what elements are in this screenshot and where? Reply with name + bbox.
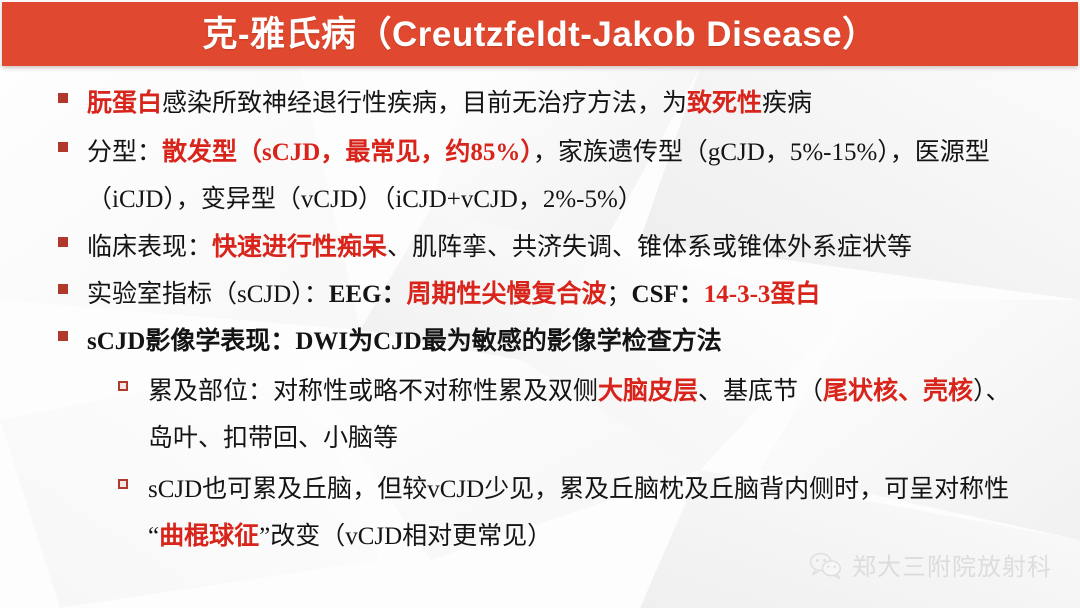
highlight-text: 尾状核、壳核 [823, 378, 973, 405]
plain-text: EEG： [329, 281, 407, 308]
highlight-text: 散发型（sCJD，最常见，约85%） [162, 139, 533, 166]
plain-text: 、基底节（ [698, 378, 823, 405]
plain-text: 疾病 [762, 90, 812, 117]
bullet-item: 分型：散发型（sCJD，最常见，约85%），家族遗传型（gCJD，5%-15%）… [0, 129, 1080, 223]
bullet-item: 实验室指标（sCJD）：EEG：周期性尖慢复合波；CSF：14-3-3蛋白 [0, 271, 1080, 318]
highlight-text: 致死性 [687, 90, 762, 117]
slide-title-banner: 克-雅氏病（Creutzfeldt-Jakob Disease） [2, 2, 1078, 66]
bullet-text: 朊蛋白感染所致神经退行性疾病，目前无治疗方法，为致死性疾病 [68, 80, 1080, 127]
plain-text: 分型： [87, 139, 162, 166]
highlight-text: 曲棍球征 [159, 523, 259, 550]
plain-text: 临床表现： [87, 234, 212, 261]
sub-bullet-item: sCJD也可累及丘脑，但较vCJD少见，累及丘脑枕及丘脑背内侧时，可呈对称性“曲… [0, 466, 1080, 560]
highlight-text: 朊蛋白 [87, 90, 162, 117]
slide-canvas: 克-雅氏病（Creutzfeldt-Jakob Disease） 朊蛋白感染所致… [0, 0, 1080, 608]
bullet-text: sCJD也可累及丘脑，但较vCJD少见，累及丘脑枕及丘脑背内侧时，可呈对称性“曲… [128, 466, 1080, 560]
highlight-text: 14-3-3蛋白 [704, 281, 821, 308]
watermark-label: 郑大三附院放射科 [852, 547, 1052, 582]
plain-text: 累及部位：对称性或略不对称性累及双侧 [148, 378, 598, 405]
bullet-text: 临床表现：快速进行性痴呆、肌阵挛、共济失调、锥体系或锥体外系症状等 [68, 224, 1080, 271]
bullet-marker-icon [58, 93, 68, 103]
plain-text: ； [607, 281, 632, 308]
bullet-item: 临床表现：快速进行性痴呆、肌阵挛、共济失调、锥体系或锥体外系症状等 [0, 224, 1080, 271]
highlight-text: 快速进行性痴呆 [212, 234, 387, 261]
bullet-text: 分型：散发型（sCJD，最常见，约85%），家族遗传型（gCJD，5%-15%）… [68, 129, 1080, 223]
plain-text: 实验室指标（sCJD）： [87, 281, 329, 308]
sub-bullet-item: 累及部位：对称性或略不对称性累及双侧大脑皮层、基底节（尾状核、壳核）、岛叶、扣带… [0, 368, 1080, 462]
bullet-marker-icon [58, 237, 68, 247]
slide-body: 朊蛋白感染所致神经退行性疾病，目前无治疗方法，为致死性疾病分型：散发型（sCJD… [0, 72, 1080, 608]
plain-text: sCJD影像学表现：DWI为CJD最为敏感的影像学检查方法 [87, 328, 722, 355]
plain-text: 感染所致神经退行性疾病，目前无治疗方法，为 [162, 90, 687, 117]
bullet-item: 朊蛋白感染所致神经退行性疾病，目前无治疗方法，为致死性疾病 [0, 80, 1080, 127]
highlight-text: 周期性尖慢复合波 [407, 281, 607, 308]
bullet-item: sCJD影像学表现：DWI为CJD最为敏感的影像学检查方法 [0, 318, 1080, 365]
bullet-text: 实验室指标（sCJD）：EEG：周期性尖慢复合波；CSF：14-3-3蛋白 [68, 271, 1080, 318]
wechat-icon [808, 551, 842, 579]
watermark: 郑大三附院放射科 [808, 547, 1052, 582]
bullet-marker-icon [58, 142, 68, 152]
highlight-text: 大脑皮层 [598, 378, 698, 405]
bullet-marker-icon [58, 331, 68, 341]
page-title: 克-雅氏病（Creutzfeldt-Jakob Disease） [202, 17, 877, 52]
bullet-text: 累及部位：对称性或略不对称性累及双侧大脑皮层、基底节（尾状核、壳核）、岛叶、扣带… [128, 368, 1080, 462]
plain-text: 、肌阵挛、共济失调、锥体系或锥体外系症状等 [387, 234, 912, 261]
plain-text: CSF： [632, 281, 704, 308]
sub-bullet-marker-icon [118, 381, 128, 391]
bullet-marker-icon [58, 284, 68, 294]
sub-bullet-marker-icon [118, 479, 128, 489]
plain-text: ”改变（vCJD相对更常见） [259, 523, 552, 550]
bullet-text: sCJD影像学表现：DWI为CJD最为敏感的影像学检查方法 [68, 318, 1080, 365]
